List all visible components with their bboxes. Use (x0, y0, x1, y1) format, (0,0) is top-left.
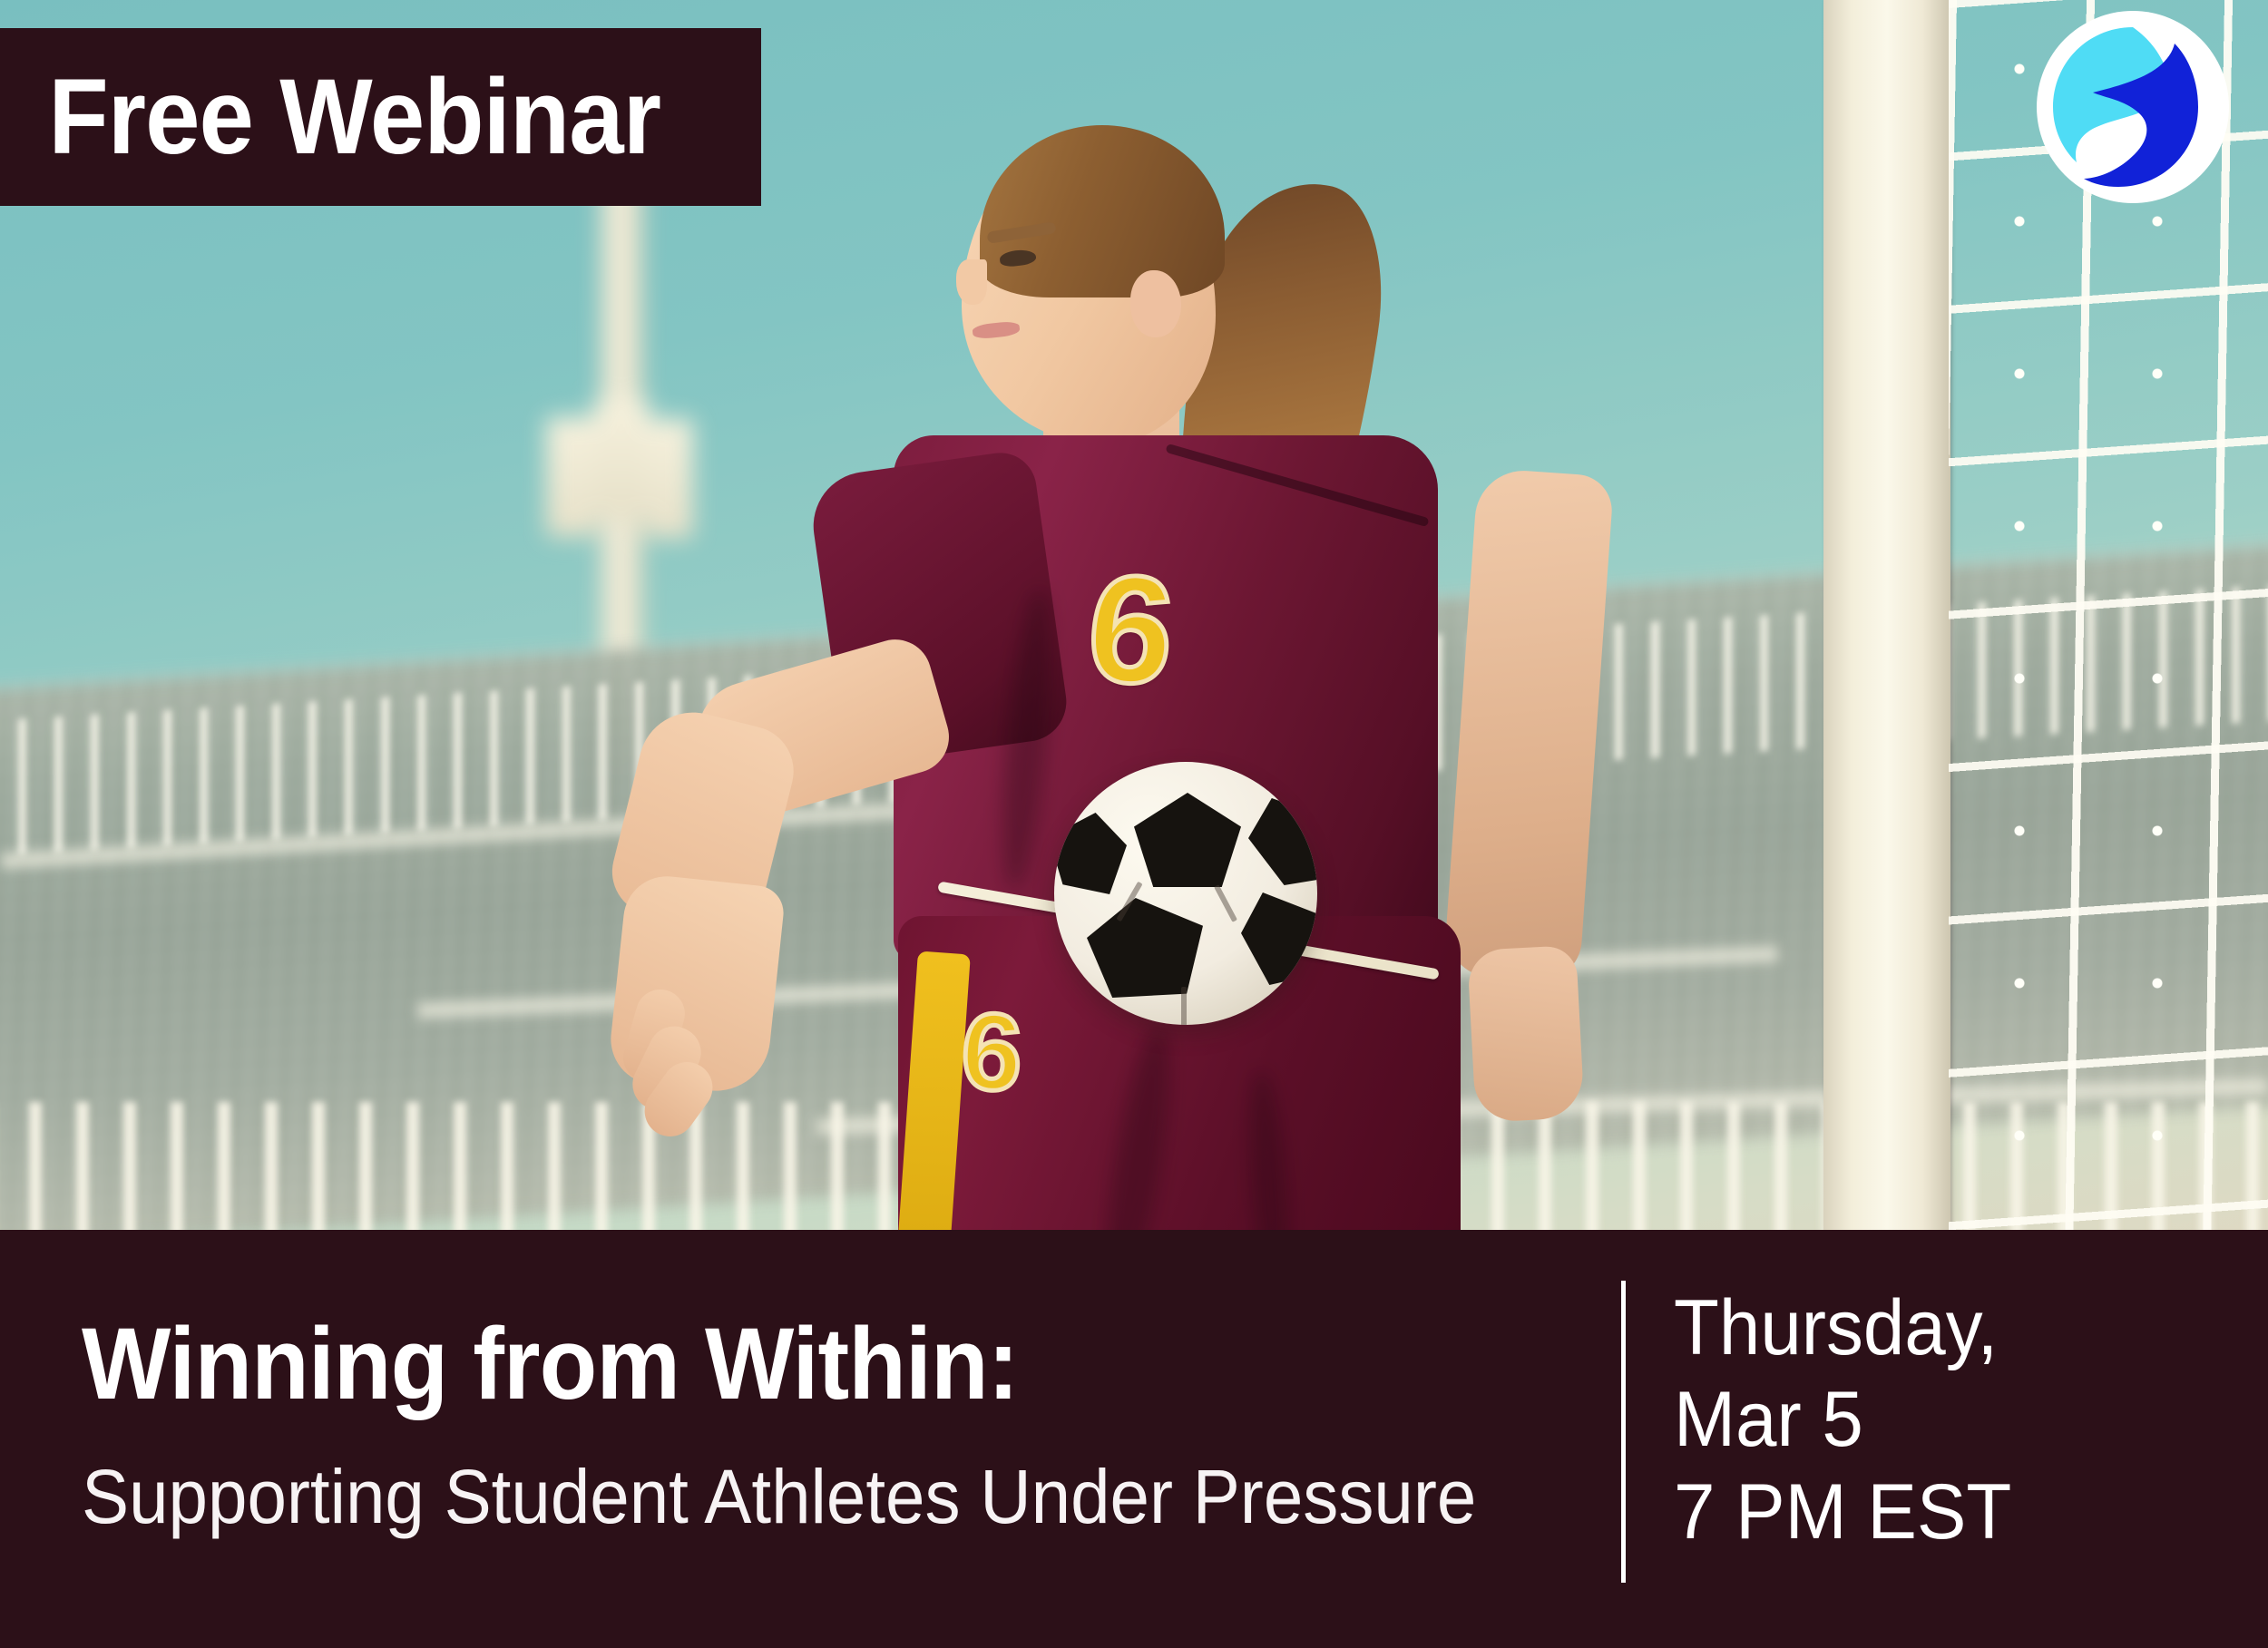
event-day: Thursday, (1674, 1282, 2011, 1374)
webinar-subtitle: Supporting Student Athletes Under Pressu… (82, 1457, 1449, 1536)
ball-patch (1248, 798, 1317, 885)
floodlight-bank-left (546, 417, 597, 537)
ball-seam (1181, 987, 1187, 1025)
s-wave-circle-logo-icon[interactable] (2037, 11, 2229, 203)
soccer-player: 6 6 (953, 82, 1896, 1230)
ball-patch (1087, 898, 1203, 998)
title-block: Winning from Within: Supporting Student … (82, 1312, 1551, 1537)
vertical-divider (1621, 1281, 1626, 1583)
ball-patch (1134, 793, 1241, 887)
webinar-promo-poster: 6 6 Free Webinar (0, 0, 2268, 1648)
event-date: Mar 5 (1674, 1374, 2011, 1466)
floodlight-bank-center (593, 399, 650, 519)
ear (1130, 270, 1181, 337)
left-arm (1443, 467, 1615, 983)
floodlight-bank-right (646, 419, 693, 539)
soccer-ball (1054, 762, 1317, 1025)
event-time: 7 PM EST (1674, 1467, 2011, 1558)
free-webinar-label: Free Webinar (0, 63, 660, 171)
free-webinar-badge: Free Webinar (0, 28, 761, 206)
ball-patch (1241, 892, 1317, 985)
jersey-number: 6 (1082, 551, 1180, 707)
webinar-title: Winning from Within: (82, 1312, 1449, 1417)
shorts-number: 6 (959, 996, 1025, 1107)
footer-bar: Winning from Within: Supporting Student … (0, 1230, 2268, 1648)
event-datetime: Thursday, Mar 5 7 PM EST (1674, 1282, 2011, 1558)
hair-top (980, 125, 1225, 297)
nose (956, 259, 987, 305)
left-hand (1467, 945, 1585, 1123)
ball-seam (1214, 884, 1237, 922)
